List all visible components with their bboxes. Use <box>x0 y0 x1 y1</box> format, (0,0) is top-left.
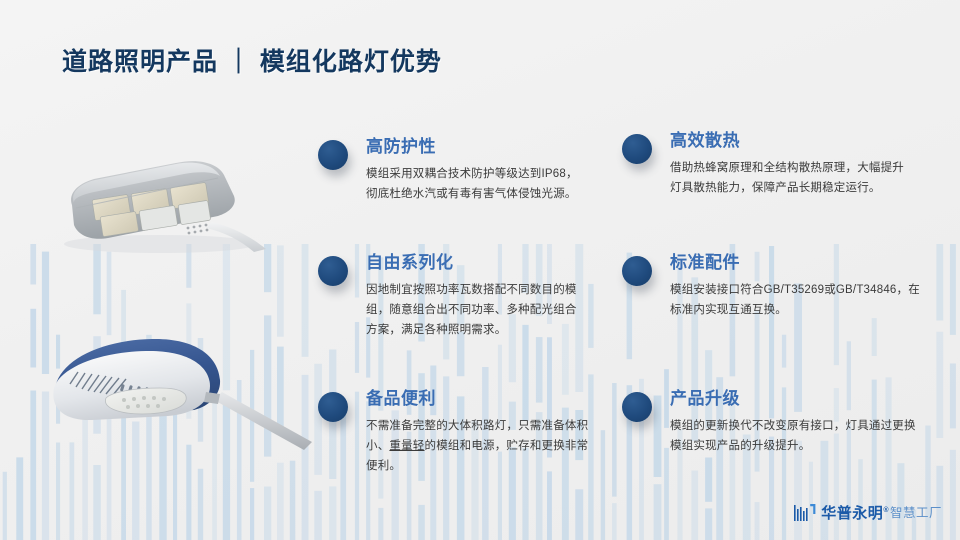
feature-title: 备品便利 <box>366 388 596 410</box>
page-title: 道路照明产品 ｜ 模组化路灯优势 <box>62 42 442 78</box>
bullet-dot-icon <box>622 134 652 164</box>
feature-title: 自由系列化 <box>366 252 586 274</box>
bullet-dot-icon <box>318 392 348 422</box>
feature-text: 模组的更新换代不改变原有接口，灯具通过更换模组实现产品的升级提升。 <box>670 416 922 456</box>
feature-text: 模组安装接口符合GB/T35269或GB/T34846，在标准内实现互通互换。 <box>670 280 922 320</box>
feature-title: 标准配件 <box>670 252 922 274</box>
logo-subtitle: 智慧工厂 <box>890 505 942 522</box>
feature-title: 高防护性 <box>366 136 586 158</box>
feature-text: 不需准备完整的大体积路灯，只需准备体积小、重量轻的模组和电源，贮存和更换非常便利… <box>366 416 596 476</box>
feature-text: 因地制宜按照功率瓦数搭配不同数目的模组，随意组合出不同功率、多种配光组合方案，满… <box>366 280 586 340</box>
bullet-dot-icon <box>318 256 348 286</box>
bullet-dot-icon <box>318 140 348 170</box>
feature-title: 产品升级 <box>670 388 922 410</box>
logo-brand-text: 华普永明 <box>821 505 883 522</box>
bullet-dot-icon <box>622 392 652 422</box>
slide-canvas: 道路照明产品 ｜ 模组化路灯优势 <box>0 0 960 540</box>
feature-text-underlined: 重量轻 <box>389 440 424 452</box>
feature-text: 借助热蜂窝原理和全结构散热原理，大幅提升灯具散热能力，保障产品长期稳定运行。 <box>670 158 912 198</box>
feature-title: 高效散热 <box>670 130 912 152</box>
bullet-dot-icon <box>622 256 652 286</box>
logo-brand-name: 华普永明® <box>821 502 889 522</box>
feature-text: 模组采用双耦合技术防护等级达到IP68，彻底杜绝水汽或有毒有害气体侵蚀光源。 <box>366 164 586 204</box>
brand-logo: 华普永明® 智慧工厂 <box>794 502 942 522</box>
product-photo-teardrop-street-light <box>18 322 318 457</box>
product-photo-modular-street-light <box>28 148 298 268</box>
logo-registered-mark: ® <box>883 507 889 514</box>
building-bars-icon <box>794 504 816 522</box>
